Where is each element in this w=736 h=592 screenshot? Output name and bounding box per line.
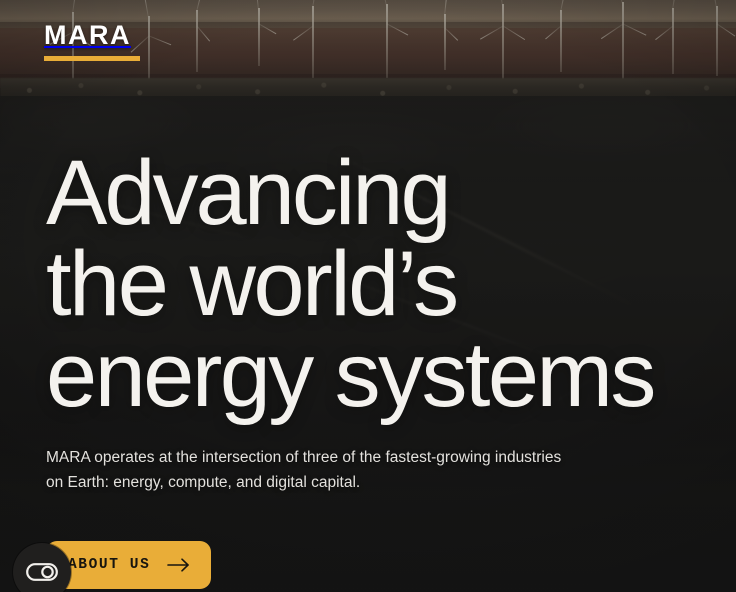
mara-logo[interactable]: MARA	[44, 22, 140, 61]
privacy-consent-button[interactable]	[13, 543, 71, 592]
privacy-toggle-icon	[26, 563, 58, 581]
hero-subheading: MARA operates at the intersection of thr…	[46, 445, 566, 495]
about-us-button[interactable]: ABOUT US	[46, 541, 211, 589]
headline-line-2: the world’s	[46, 239, 712, 330]
hero-copy: Advancing the world’s energy systems MAR…	[0, 148, 736, 495]
arrow-right-icon	[167, 557, 191, 573]
page-title: Advancing the world’s energy systems	[46, 148, 712, 421]
logo-underline-rule	[44, 56, 140, 61]
headline-line-3: energy systems	[46, 330, 712, 421]
logo-wordmark: MARA	[44, 22, 140, 49]
hero-section: MARA Advancing the world’s energy system…	[0, 0, 736, 592]
headline-line-1: Advancing	[46, 148, 712, 239]
about-us-button-label: ABOUT US	[68, 557, 150, 573]
